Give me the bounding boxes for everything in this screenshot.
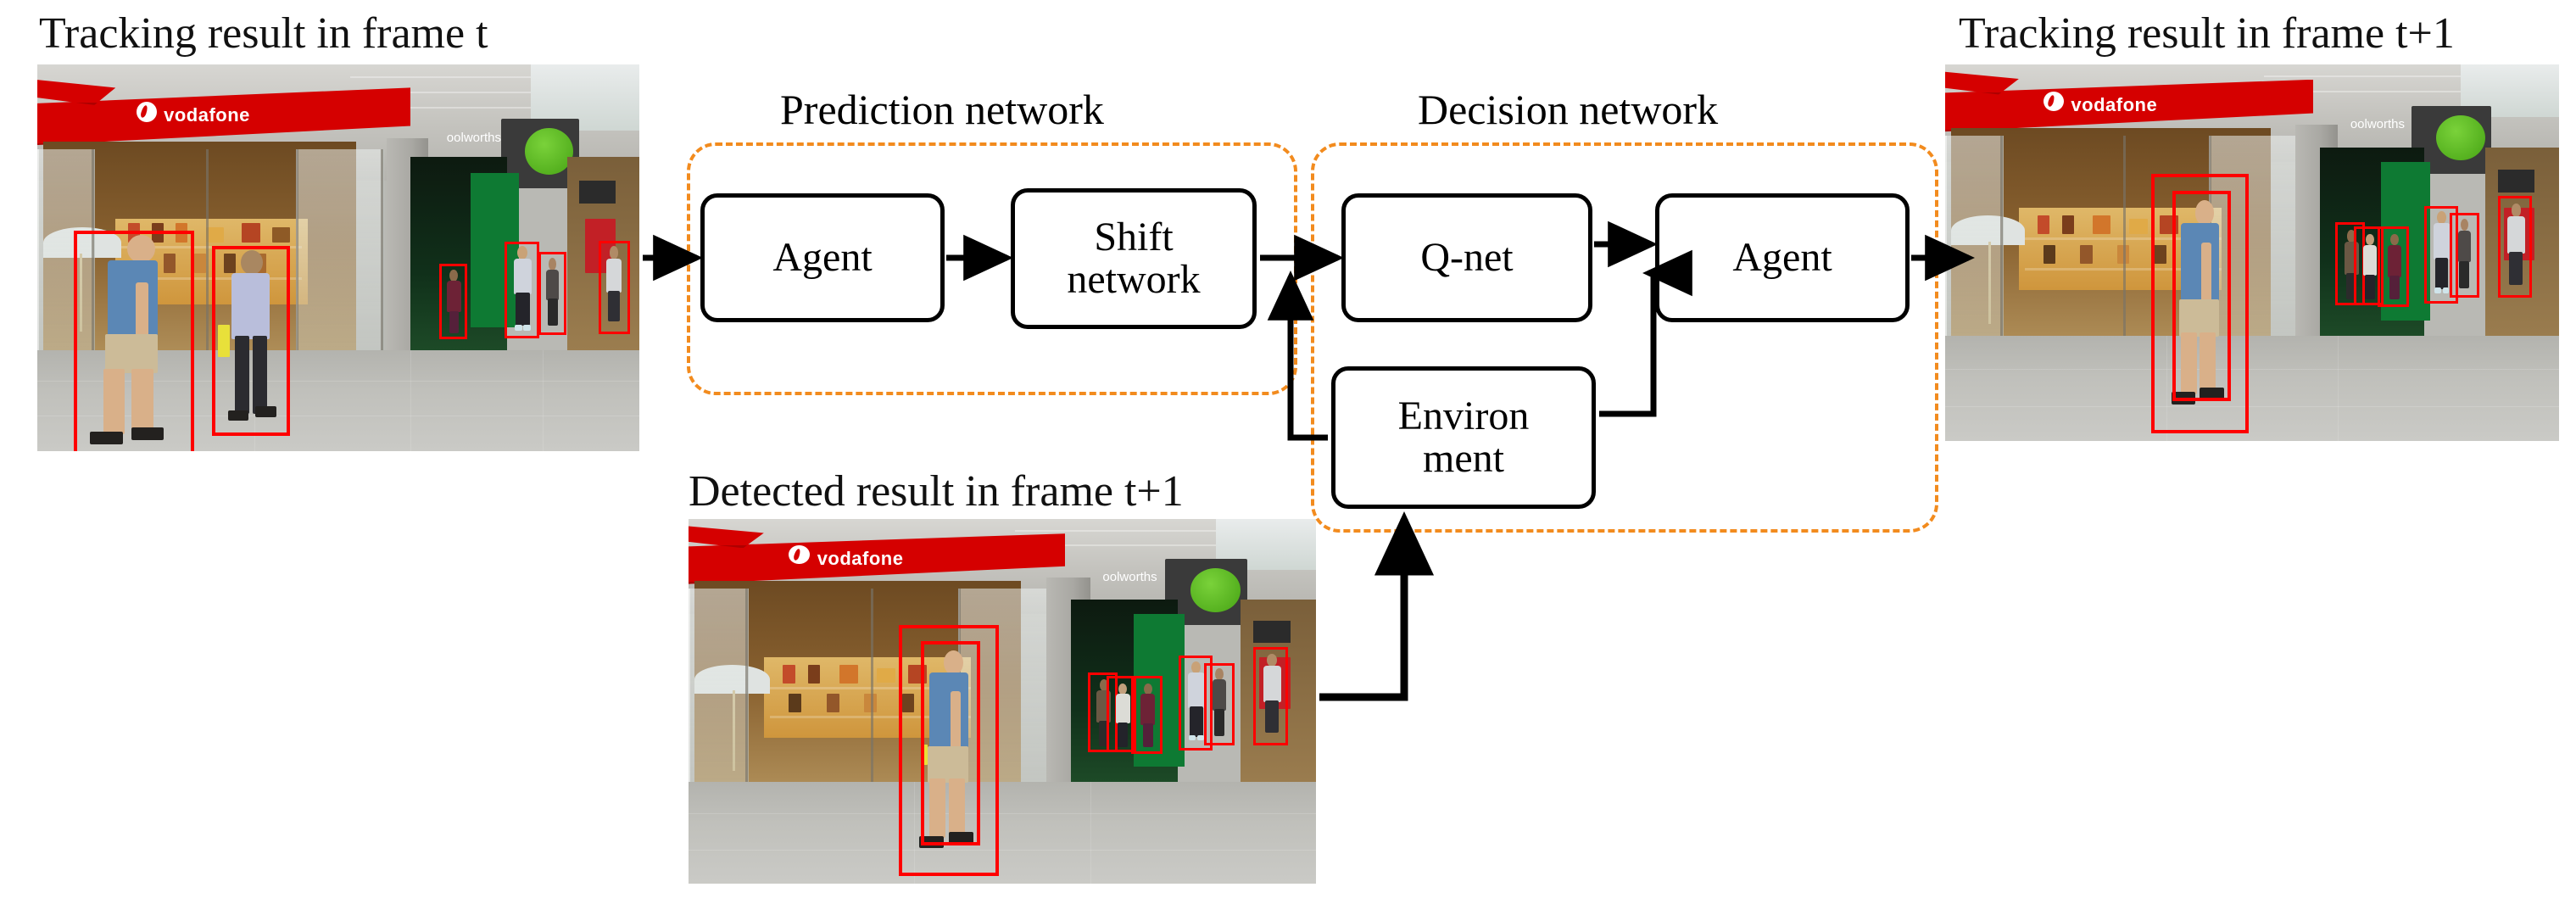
bbox-pedestrian-4 [505, 242, 539, 338]
node-agent-decision-label: Agent [1732, 237, 1832, 279]
bbox-detect-4 [1131, 676, 1163, 754]
node-agent-prediction-label: Agent [772, 237, 872, 279]
image-detected-frame-t1: vodafone oolwort [689, 519, 1316, 884]
figure-canvas: Tracking result in frame t Detected resu… [0, 0, 2576, 904]
caption-frame-t: Tracking result in frame t [39, 10, 488, 58]
node-agent-decision[interactable]: Agent [1655, 193, 1910, 322]
node-qnet-label: Q-net [1420, 237, 1513, 279]
arrow-detection-to-environment [1319, 519, 1404, 697]
caption-detected-frame-t1: Detected result in frame t+1 [689, 468, 1184, 516]
node-qnet[interactable]: Q-net [1341, 193, 1592, 322]
bbox-pedestrian-3 [439, 264, 467, 339]
node-shift-network[interactable]: Shift network [1011, 188, 1257, 329]
image-tracking-frame-t1: vodafone oolwort [1945, 64, 2559, 441]
node-shift-network-label-line2: network [1067, 259, 1200, 301]
bbox-detect-6 [1204, 663, 1235, 745]
prediction-network-label: Prediction network [780, 85, 1104, 134]
decision-network-label: Decision network [1418, 85, 1718, 134]
bbox-pedestrian-6 [599, 241, 631, 333]
bbox-pedestrian-1 [74, 231, 194, 451]
bbox-track-1-inner [2172, 191, 2231, 402]
node-environment-label-line1: Environ [1398, 395, 1530, 438]
bbox-detect-1-inner [921, 641, 980, 845]
node-environment[interactable]: Environ ment [1331, 366, 1596, 509]
image-tracking-frame-t: vodafone [37, 64, 639, 451]
bbox-pedestrian-5 [538, 252, 566, 335]
bbox-detect-7 [1253, 647, 1288, 745]
node-shift-network-label-line1: Shift [1067, 216, 1200, 259]
bbox-track-7 [2498, 196, 2533, 298]
bbox-track-6 [2450, 213, 2479, 298]
bbox-track-4 [2378, 226, 2408, 307]
node-agent-prediction[interactable]: Agent [700, 193, 945, 322]
bbox-pedestrian-2 [212, 246, 290, 435]
caption-frame-t1: Tracking result in frame t+1 [1959, 10, 2455, 58]
node-environment-label-line2: ment [1398, 438, 1530, 480]
